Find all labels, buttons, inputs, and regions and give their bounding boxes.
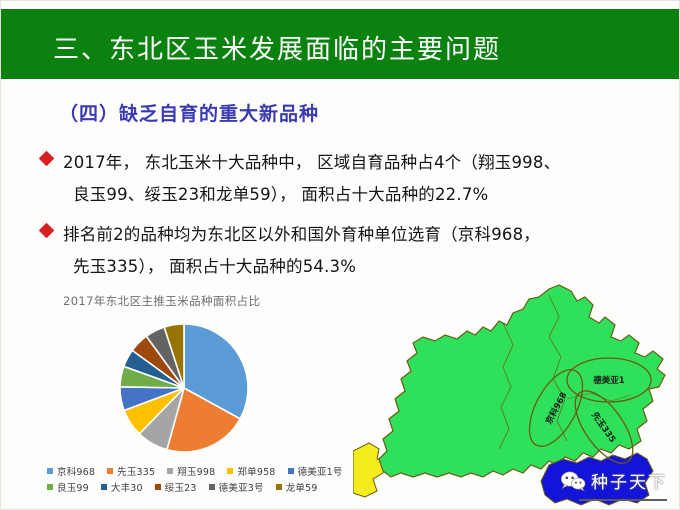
pie-chart — [117, 321, 251, 455]
legend-label: 大丰30 — [111, 480, 143, 494]
page-title: 三、东北区玉米发展面临的主要问题 — [53, 29, 501, 66]
legend-label: 翔玉998 — [177, 464, 215, 478]
bullet-line: 先玉335）， 面积占十大品种的54.3% — [63, 251, 540, 283]
legend-label: 绥玉23 — [165, 480, 197, 494]
pie-chart-svg — [117, 321, 251, 455]
legend-swatch-icon — [227, 468, 233, 474]
bullet-item: 2017年， 东北玉米十大品种中， 区域自育品种占4个（翔玉998、 良玉99、… — [41, 147, 560, 211]
legend-swatch-icon — [107, 468, 113, 474]
legend-item-龙单59: 龙单59 — [276, 480, 318, 494]
legend-swatch-icon — [288, 468, 294, 474]
bullet-line: 2017年， 东北玉米十大品种中， 区域自育品种占4个（翔玉998、 — [63, 147, 560, 179]
wechat-icon — [560, 470, 586, 492]
section-subtitle: （四）缺乏自育的重大新品种 — [59, 99, 319, 126]
legend-label: 德美亚1号 — [298, 464, 343, 478]
watermark-rule — [579, 499, 667, 501]
legend-swatch-icon — [209, 484, 215, 490]
chart-legend: 京科968先玉335翔玉998郑单958德美亚1号 良玉99大丰30绥玉23德美… — [47, 463, 375, 495]
watermark-text: 种子天下 — [591, 468, 667, 493]
legend-label: 郑单958 — [237, 464, 275, 478]
diamond-bullet-icon — [39, 223, 55, 239]
legend-item-德美亚1号: 德美亚1号 — [288, 464, 343, 478]
bullet-line: 良玉99、绥玉23和龙单59）， 面积占十大品种的22.7% — [63, 179, 560, 211]
legend-item-郑单958: 郑单958 — [227, 464, 275, 478]
legend-item-京科968: 京科968 — [47, 464, 95, 478]
legend-item-德美亚3号: 德美亚3号 — [209, 480, 264, 494]
legend-swatch-icon — [155, 484, 161, 490]
legend-row: 京科968先玉335翔玉998郑单958德美亚1号 — [47, 463, 375, 479]
legend-label: 京科968 — [57, 464, 95, 478]
bullet-item: 排名前2的品种均为东北区以外和国外育种单位选育（京科968， 先玉335）， 面… — [41, 219, 540, 283]
map-panel: 德美亚1 京科968 先玉335 — [353, 283, 680, 510]
watermark: 种子天下 — [560, 468, 667, 493]
legend-label: 先玉335 — [117, 464, 155, 478]
legend-label: 龙单59 — [286, 480, 318, 494]
legend-item-绥玉23: 绥玉23 — [155, 480, 197, 494]
legend-swatch-icon — [276, 484, 282, 490]
legend-label: 良玉99 — [57, 480, 89, 494]
legend-item-翔玉998: 翔玉998 — [167, 464, 215, 478]
legend-swatch-icon — [47, 484, 53, 490]
legend-item-良玉99: 良玉99 — [47, 480, 89, 494]
bullet-line: 排名前2的品种均为东北区以外和国外育种单位选育（京科968， — [63, 219, 540, 251]
header-band: 三、东北区玉米发展面临的主要问题 — [1, 9, 680, 79]
slide-canvas: 三、东北区玉米发展面临的主要问题 （四）缺乏自育的重大新品种 2017年， 东北… — [0, 0, 680, 510]
legend-label: 德美亚3号 — [219, 480, 264, 494]
legend-swatch-icon — [47, 468, 53, 474]
legend-row: 良玉99大丰30绥玉23德美亚3号龙单59 — [47, 479, 375, 495]
chart-title: 2017年东北区主推玉米品种面积占比 — [63, 293, 260, 309]
legend-swatch-icon — [167, 468, 173, 474]
legend-item-大丰30: 大丰30 — [101, 480, 143, 494]
map-annotation-label: 德美亚1 — [593, 375, 625, 386]
map-region-west — [353, 443, 387, 497]
legend-item-先玉335: 先玉335 — [107, 464, 155, 478]
pie-chart-panel: 2017年东北区主推玉米品种面积占比 京科968先玉335翔玉998郑单958德… — [45, 289, 375, 504]
diamond-bullet-icon — [39, 151, 55, 167]
legend-swatch-icon — [101, 484, 107, 490]
